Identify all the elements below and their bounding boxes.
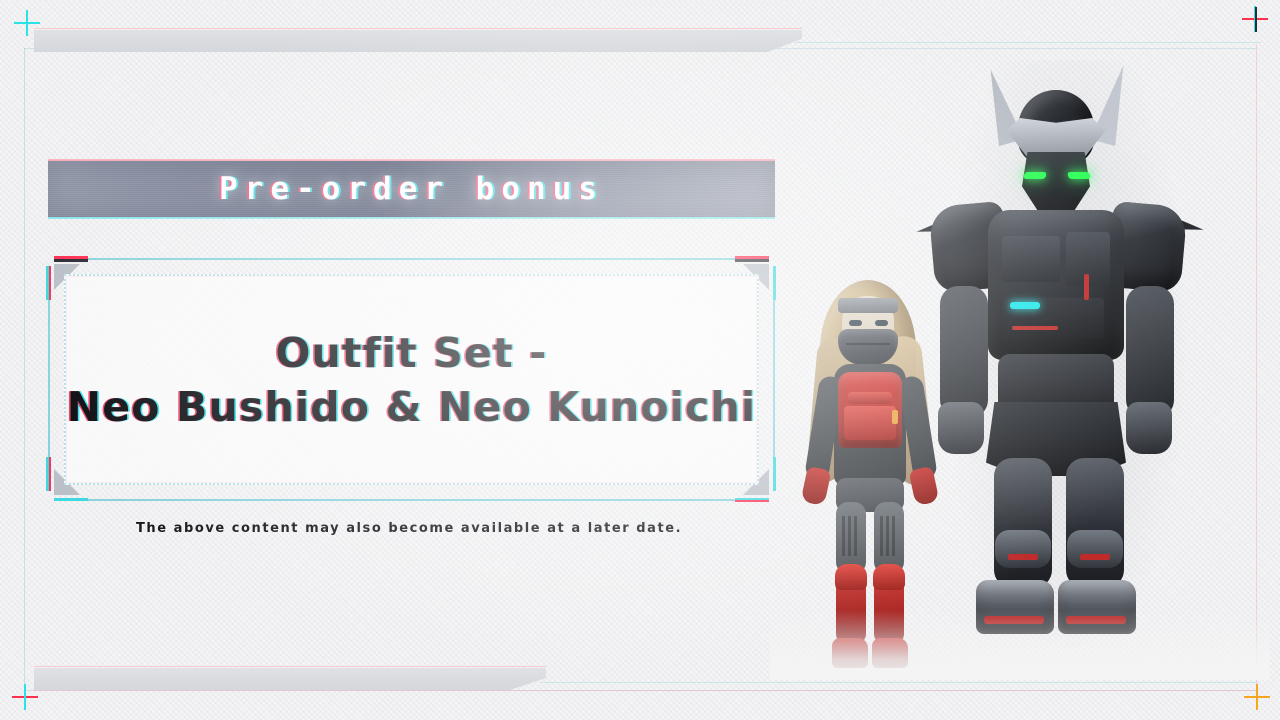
crosshair-marker-bottom-left bbox=[12, 684, 38, 710]
crosshair-marker-bottom-right bbox=[1244, 684, 1270, 710]
content-frame: Outfit Set - Neo Bushido & Neo Kunoichi bbox=[48, 258, 775, 501]
kunoichi-headband bbox=[838, 298, 898, 313]
banner-title: Pre-order bonus bbox=[48, 171, 775, 207]
bushido-knee-accent-left bbox=[1008, 554, 1038, 560]
frame-line-bottom bbox=[88, 499, 736, 501]
kunoichi-glove-left bbox=[801, 466, 832, 506]
bushido-knee-right bbox=[1067, 530, 1123, 568]
bottom-bar-accent-line bbox=[34, 666, 546, 667]
preorder-bonus-banner: Pre-order bonus bbox=[48, 160, 775, 218]
guide-line-left bbox=[24, 48, 25, 696]
bushido-arm-right bbox=[1126, 286, 1174, 418]
bushido-leg-right bbox=[1066, 458, 1124, 588]
kunoichi-knee-right bbox=[873, 564, 905, 590]
kunoichi-eye-left bbox=[849, 320, 862, 326]
crosshair-marker-top-left bbox=[14, 10, 40, 36]
bushido-eye-left bbox=[1023, 172, 1047, 179]
bottom-pink-line bbox=[34, 690, 1258, 691]
kunoichi-knee-left bbox=[835, 564, 867, 590]
frame-line-top bbox=[88, 258, 736, 260]
artwork-bottom-fade bbox=[770, 610, 1270, 680]
kunoichi-eye-right bbox=[875, 320, 888, 326]
character-neo-bushido bbox=[910, 60, 1210, 680]
bottom-decor-bar bbox=[34, 668, 546, 690]
preorder-bonus-slide: Pre-order bonus bbox=[0, 0, 1280, 720]
bushido-arm-left bbox=[940, 286, 988, 418]
character-artwork bbox=[770, 40, 1270, 680]
disclaimer-text: The above content may also become availa… bbox=[136, 521, 682, 536]
bushido-leg-left bbox=[994, 458, 1052, 588]
bushido-eye-right bbox=[1067, 172, 1091, 179]
frame-line-right bbox=[773, 298, 775, 461]
content-inner-panel: Outfit Set - Neo Bushido & Neo Kunoichi bbox=[64, 274, 759, 485]
bottom-bar-tail-line bbox=[540, 682, 1258, 683]
banner-top-edge bbox=[48, 159, 775, 161]
frame-line-left bbox=[48, 298, 50, 461]
banner-bottom-edge bbox=[48, 217, 775, 219]
crosshair-marker-top-right bbox=[1242, 6, 1268, 32]
bushido-knee-accent-right bbox=[1080, 554, 1110, 560]
kunoichi-face-mask bbox=[838, 329, 898, 365]
bushido-hand-right bbox=[1126, 402, 1172, 454]
kunoichi-chest-armor bbox=[838, 372, 902, 448]
bushido-hand-left bbox=[938, 402, 984, 454]
top-bar-accent-line bbox=[34, 28, 802, 29]
bushido-knee-left bbox=[995, 530, 1051, 568]
outfit-set-headline: Outfit Set - Neo Bushido & Neo Kunoichi bbox=[66, 325, 757, 433]
bushido-chest-led bbox=[1010, 302, 1040, 309]
top-decor-bar bbox=[34, 30, 802, 52]
bushido-chest-armor bbox=[988, 210, 1124, 360]
